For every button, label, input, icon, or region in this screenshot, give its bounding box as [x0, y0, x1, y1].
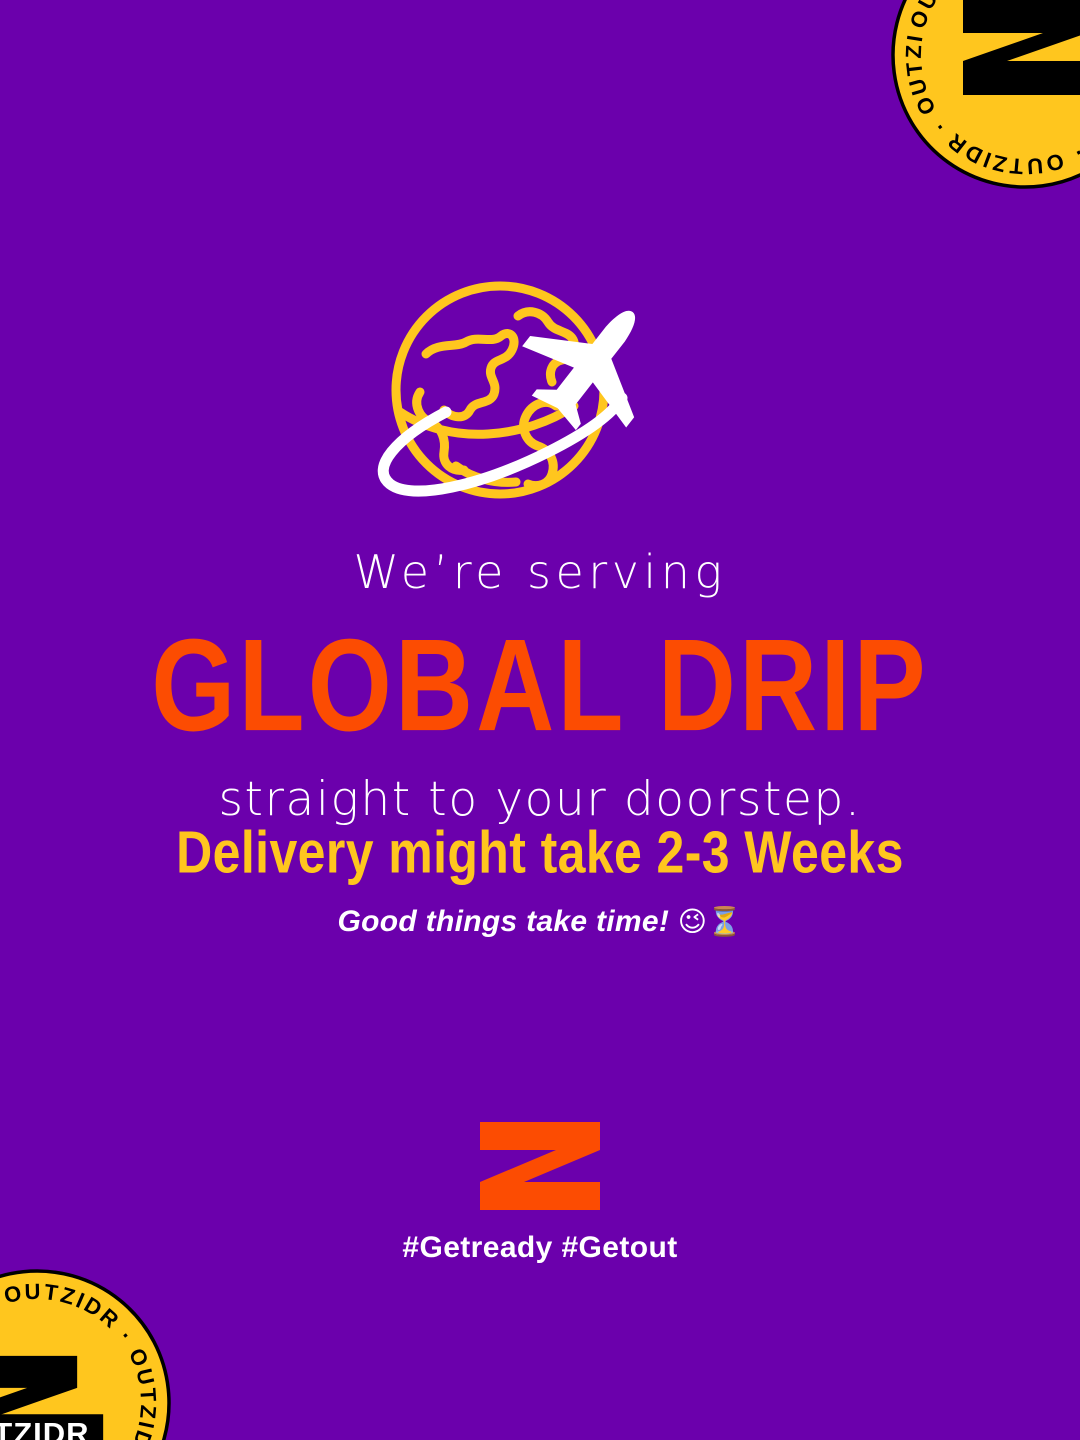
wink-hourglass-emoji: 😉⏳ — [678, 905, 743, 938]
z-logo — [476, 1120, 604, 1212]
hero-illustration — [0, 272, 1080, 512]
headline-feature: GLOBAL DRIP — [0, 613, 1080, 760]
footer-block: #Getready #Getout — [0, 1120, 1080, 1265]
delivery-block: Delivery might take 2-3 Weeks Good thing… — [0, 818, 1080, 940]
seal-wordmark: OUTZIDR — [0, 1414, 103, 1440]
poster-canvas: OUTZIDR · OUTZIDR · OUTZIDR · OUTZIDR · … — [0, 0, 1080, 1440]
delivery-headline: Delivery might take 2-3 Weeks — [0, 818, 1080, 886]
headline-eyebrow: We’re serving — [0, 546, 1080, 599]
z-logo-shape — [480, 1122, 600, 1210]
headline-block: We’re serving GLOBAL DRIP straight to yo… — [0, 546, 1080, 827]
outzidr-seal-top-right: OUTZIDR · OUTZIDR · OUTZIDR · OUTZIDR · … — [861, 0, 1080, 219]
globe-airplane-icon — [360, 272, 720, 512]
delivery-subtext: Good things take time! 😉⏳ — [0, 904, 1080, 940]
delivery-subtext-label: Good things take time! — [338, 905, 670, 938]
outzidr-seal-bottom-left: OUTZIDR · OUTZIDR · OUTZIDR · OUTZIDR · … — [0, 1255, 185, 1440]
seal-wordmark-text: OUTZIDR — [0, 1416, 90, 1440]
hashtags-text: #Getready #Getout — [0, 1231, 1080, 1265]
